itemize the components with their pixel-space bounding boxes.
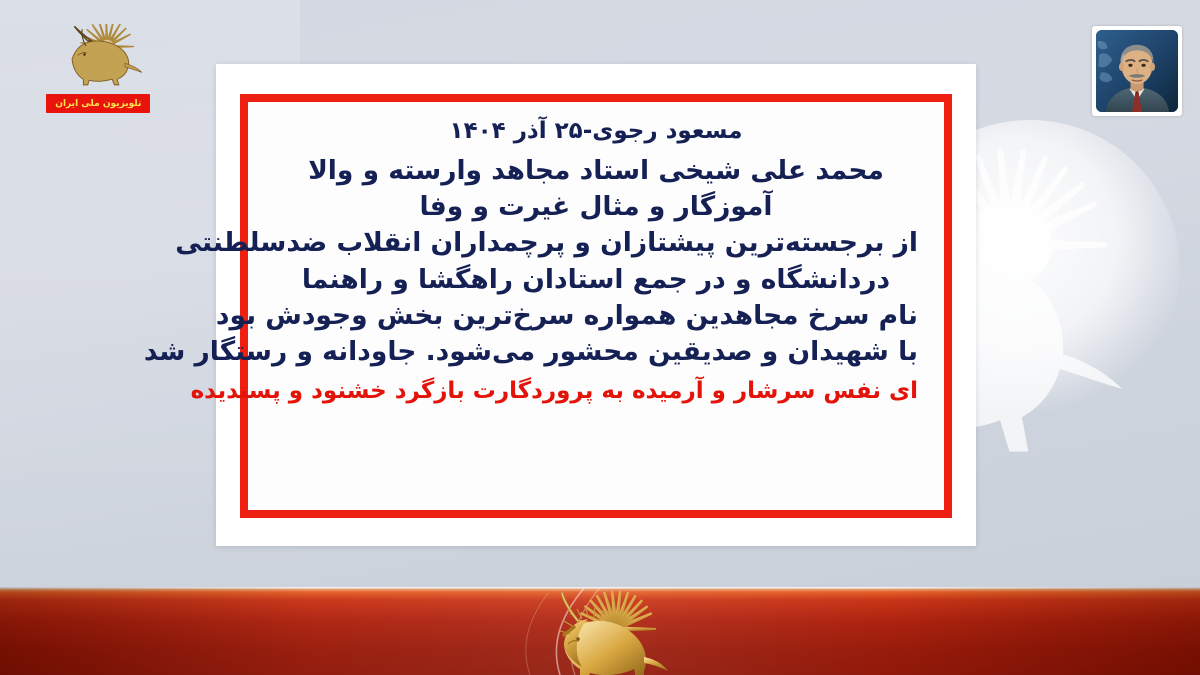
lion-and-sun-emblem-icon xyxy=(52,24,144,86)
quote-line-6: با شهیدان و صدیقین محشور می‌شود. جاودانه… xyxy=(274,338,918,365)
avatar xyxy=(1092,26,1182,116)
portrait-photo-icon xyxy=(1096,30,1178,112)
quote-card-border: مسعود رجوی-۲۵ آذر ۱۴۰۴ محمد علی شیخی است… xyxy=(240,94,952,518)
channel-name-text: تلویزیون ملی ایران xyxy=(55,99,141,109)
quote-attribution: مسعود رجوی-۲۵ آذر ۱۴۰۴ xyxy=(274,120,918,143)
quote-line-5: نام سرخ مجاهدین همواره سرخ‌ترین بخش وجود… xyxy=(274,302,918,329)
quote-line-2: آموزگار و مثال غیرت و وفا xyxy=(274,193,918,220)
quote-line-1: محمد علی شیخی استاد مجاهد وارسته و والا xyxy=(274,157,918,184)
quote-line-4: دردانشگاه و در جمع استادان راهگشا و راهن… xyxy=(274,266,918,293)
broadcast-stage: تلویزیون ملی ایران xyxy=(0,0,1200,675)
quote-line-3: از برجسته‌ترین پیشتازان و پرچمداران انقل… xyxy=(274,229,918,256)
quote-content: مسعود رجوی-۲۵ آذر ۱۴۰۴ محمد علی شیخی است… xyxy=(248,102,944,510)
quote-card: مسعود رجوی-۲۵ آذر ۱۴۰۴ محمد علی شیخی است… xyxy=(216,64,976,546)
gold-lion-and-sun-statue-icon xyxy=(520,591,680,675)
channel-logo: تلویزیون ملی ایران xyxy=(46,24,150,116)
channel-name-banner: تلویزیون ملی ایران xyxy=(46,94,150,113)
bottom-banner xyxy=(0,587,1200,675)
quote-closing-line: ای نفس سرشار و آرمیده به پروردگارت بازگر… xyxy=(274,380,918,403)
